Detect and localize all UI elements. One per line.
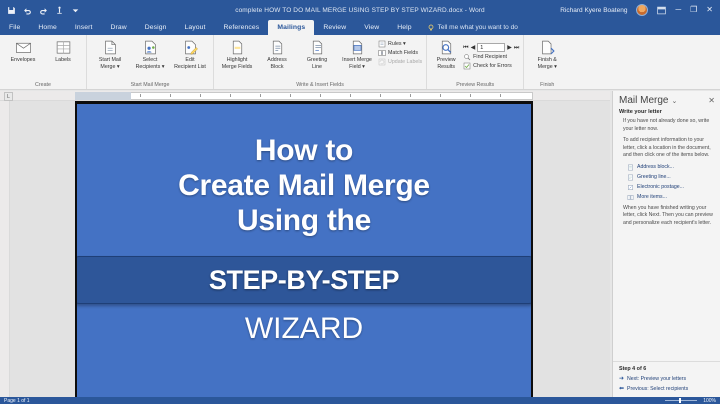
- match-fields-button[interactable]: Match Fields: [378, 49, 422, 57]
- last-record-button[interactable]: ⏭: [514, 45, 519, 51]
- more-items-icon: [627, 194, 634, 201]
- zoom-slider-thumb[interactable]: [679, 398, 681, 403]
- greeting-line-icon: [627, 174, 634, 181]
- title-bar-right: Richard Kyere Boateng ─ ❐ ✕: [560, 4, 720, 16]
- pane-item-greeting-line-label: Greeting line...: [637, 174, 671, 180]
- address-block-button[interactable]: AddressBlock: [258, 37, 296, 70]
- close-button[interactable]: ✕: [706, 6, 713, 14]
- next-step-label: Next: Preview your letters: [627, 376, 686, 382]
- next-record-button[interactable]: ▶: [507, 45, 512, 51]
- preview-results-button[interactable]: PreviewResults: [431, 37, 461, 70]
- insert-merge-field-button[interactable]: Insert MergeField ▾: [338, 37, 376, 70]
- record-navigator: ⏮ ◀ 1 ▶ ⏭: [463, 40, 519, 52]
- horizontal-ruler[interactable]: L: [0, 91, 610, 101]
- edit-recipient-list-label: EditRecipient List: [174, 57, 206, 70]
- rules-icon: [378, 40, 386, 48]
- highlight-merge-fields-icon: [229, 39, 246, 56]
- greeting-line-icon: [309, 39, 326, 56]
- ruler-strip: [75, 92, 533, 100]
- ribbon-group-write-insert-fields: HighlightMerge Fields AddressBlock Greet…: [214, 35, 427, 89]
- group-title-create: Create: [0, 82, 86, 88]
- check-for-errors-label: Check for Errors: [473, 63, 512, 69]
- finish-and-merge-icon: [539, 39, 556, 56]
- tab-references[interactable]: References: [215, 20, 269, 35]
- select-recipients-button[interactable]: SelectRecipients ▾: [131, 37, 169, 70]
- match-fields-label: Match Fields: [388, 50, 418, 56]
- tab-layout[interactable]: Layout: [176, 20, 215, 35]
- ruler-margin-left: [75, 92, 131, 100]
- finish-and-merge-label: Finish &Merge ▾: [538, 57, 557, 70]
- slide-title: How to Create Mail Merge Using the: [77, 104, 531, 238]
- tell-me-box[interactable]: Tell me what you want to do: [427, 20, 518, 35]
- rules-button[interactable]: Rules ▾: [378, 40, 422, 48]
- step-indicator: Step 4 of 6: [619, 366, 714, 372]
- ribbon-group-start-mail-merge: Start MailMerge ▾ SelectRecipients ▾ Edi…: [87, 35, 214, 89]
- pane-item-greeting-line[interactable]: Greeting line...: [627, 174, 714, 181]
- status-bar: Page 1 of 1 100%: [0, 397, 720, 404]
- labels-label: Labels: [55, 57, 71, 64]
- avatar[interactable]: [636, 4, 648, 16]
- account-name[interactable]: Richard Kyere Boateng: [560, 7, 627, 14]
- ribbon: Envelopes Labels Create Start MailMerg: [0, 35, 720, 90]
- greeting-line-label: GreetingLine: [307, 57, 327, 70]
- check-for-errors-button[interactable]: Check for Errors: [463, 62, 519, 70]
- close-icon[interactable]: ✕: [708, 97, 715, 105]
- title-slide: How to Create Mail Merge Using the STEP-…: [77, 104, 531, 402]
- tab-design[interactable]: Design: [136, 20, 176, 35]
- tell-me-label: Tell me what you want to do: [438, 24, 518, 31]
- minimize-button[interactable]: ─: [675, 6, 681, 14]
- task-pane-title: Mail Merge: [619, 95, 668, 106]
- address-block-icon: [627, 164, 634, 171]
- find-recipient-icon: [463, 53, 471, 61]
- pane-item-address-block-label: Address block...: [637, 164, 674, 170]
- tab-file[interactable]: File: [0, 20, 29, 35]
- pane-item-electronic-postage-label: Electronic postage...: [637, 184, 684, 190]
- group-title-start-mail-merge: Start Mail Merge: [87, 82, 213, 88]
- tab-review[interactable]: Review: [314, 20, 355, 35]
- ribbon-group-preview-results: PreviewResults ⏮ ◀ 1 ▶ ⏭ Find Recipi: [427, 35, 524, 89]
- task-pane-footer-note: When you have finished writing your lett…: [623, 205, 714, 228]
- preview-results-label: PreviewResults: [437, 57, 456, 70]
- restore-button[interactable]: ❐: [690, 6, 697, 14]
- group-title-write-insert-fields: Write & Insert Fields: [214, 82, 426, 88]
- page-info[interactable]: Page 1 of 1: [4, 398, 30, 404]
- highlight-merge-fields-label: HighlightMerge Fields: [222, 57, 253, 70]
- slide-title-line-3: Using the: [77, 204, 531, 239]
- envelopes-button[interactable]: Envelopes: [4, 37, 42, 64]
- update-labels-label: Update Labels: [388, 59, 422, 65]
- preview-results-icon: [438, 39, 455, 56]
- status-bar-right: 100%: [665, 398, 720, 404]
- group-title-finish: Finish: [524, 82, 570, 88]
- slide-title-line-2: Create Mail Merge: [77, 169, 531, 204]
- tab-insert[interactable]: Insert: [66, 20, 102, 35]
- update-labels-icon: [378, 58, 386, 66]
- status-bar-left: Page 1 of 1: [0, 398, 30, 404]
- ribbon-display-options-icon[interactable]: [657, 6, 666, 15]
- tab-view[interactable]: View: [355, 20, 388, 35]
- slide-subtitle: WIZARD: [77, 312, 531, 345]
- pane-item-more-items[interactable]: More items...: [627, 194, 714, 201]
- slide-title-line-1: How to: [77, 134, 531, 169]
- banner-text: STEP-BY-STEP: [209, 265, 399, 296]
- tab-home[interactable]: Home: [29, 20, 66, 35]
- task-pane-paragraph-2: To add recipient information to your let…: [623, 137, 714, 160]
- match-fields-icon: [378, 49, 386, 57]
- zoom-level[interactable]: 100%: [703, 398, 716, 404]
- ribbon-group-finish: Finish &Merge ▾ Finish: [524, 35, 570, 89]
- previous-step-link[interactable]: ⬅ Previous: Select recipients: [619, 386, 714, 392]
- start-mail-merge-icon: [102, 39, 119, 56]
- rules-label: Rules ▾: [388, 41, 406, 47]
- previous-record-button[interactable]: ◀: [471, 45, 476, 51]
- task-pane-footer: Step 4 of 6 ➜ Next: Preview your letters…: [613, 361, 720, 396]
- start-mail-merge-label: Start MailMerge ▾: [99, 57, 121, 70]
- title-bar: complete HOW TO DO MAIL MERGE USING STEP…: [0, 0, 720, 20]
- address-block-label: AddressBlock: [267, 57, 286, 70]
- select-recipients-label: SelectRecipients ▾: [136, 57, 165, 70]
- tab-draw[interactable]: Draw: [102, 20, 136, 35]
- write-insert-small-commands: Rules ▾ Match Fields Update Labels: [378, 37, 422, 66]
- envelope-icon: [15, 39, 32, 56]
- pane-item-more-items-label: More items...: [637, 194, 667, 200]
- group-title-preview-results: Preview Results: [427, 82, 523, 88]
- select-recipients-icon: [142, 39, 159, 56]
- labels-icon: [55, 39, 72, 56]
- find-recipient-button[interactable]: Find Recipient: [463, 53, 519, 61]
- edit-recipient-list-button[interactable]: EditRecipient List: [171, 37, 209, 70]
- next-step-link[interactable]: ➜ Next: Preview your letters: [619, 376, 714, 382]
- task-pane-heading: Write your letter: [619, 109, 714, 115]
- word-window: complete HOW TO DO MAIL MERGE USING STEP…: [0, 0, 720, 404]
- check-for-errors-icon: [463, 62, 471, 70]
- vertical-ruler[interactable]: [0, 101, 10, 404]
- highlight-merge-fields-button[interactable]: HighlightMerge Fields: [218, 37, 256, 70]
- task-pane-header: Mail Merge ⌄ ✕: [613, 91, 720, 109]
- previous-step-label: Previous: Select recipients: [627, 386, 688, 392]
- tab-mailings[interactable]: Mailings: [268, 20, 314, 35]
- envelopes-label: Envelopes: [11, 57, 36, 64]
- document-page[interactable]: How to Create Mail Merge Using the STEP-…: [75, 101, 533, 404]
- ribbon-tabs: File Home Insert Draw Design Layout Refe…: [0, 20, 720, 35]
- edit-recipient-list-icon: [182, 39, 199, 56]
- pane-item-electronic-postage[interactable]: Electronic postage...: [627, 184, 714, 191]
- arrow-right-icon: ➜: [619, 376, 624, 382]
- step-by-step-banner: STEP-BY-STEP: [75, 256, 533, 304]
- update-labels-button[interactable]: Update Labels: [378, 58, 422, 66]
- chevron-down-icon[interactable]: ⌄: [671, 97, 677, 105]
- labels-button[interactable]: Labels: [44, 37, 82, 64]
- electronic-postage-icon: [627, 184, 634, 191]
- insert-merge-field-label: Insert MergeField ▾: [342, 57, 372, 70]
- tab-help[interactable]: Help: [388, 20, 420, 35]
- task-pane-item-list: Address block... Greeting line... Electr…: [627, 164, 714, 201]
- start-mail-merge-button[interactable]: Start MailMerge ▾: [91, 37, 129, 70]
- ribbon-group-create: Envelopes Labels Create: [0, 35, 87, 89]
- address-block-icon: [269, 39, 286, 56]
- insert-merge-field-icon: [349, 39, 366, 56]
- document-canvas: How to Create Mail Merge Using the STEP-…: [10, 101, 610, 404]
- preview-results-commands: ⏮ ◀ 1 ▶ ⏭ Find Recipient: [463, 37, 519, 70]
- mail-merge-task-pane: Mail Merge ⌄ ✕ Write your letter If you …: [612, 91, 720, 404]
- record-number-input[interactable]: 1: [477, 43, 505, 52]
- tab-stop-selector[interactable]: L: [4, 92, 13, 101]
- finish-and-merge-button[interactable]: Finish &Merge ▾: [528, 37, 566, 70]
- task-pane-paragraph-1: If you have not already done so, write y…: [623, 118, 714, 133]
- find-recipient-label: Find Recipient: [473, 54, 507, 60]
- arrow-left-icon: ⬅: [619, 386, 624, 392]
- pane-item-address-block[interactable]: Address block...: [627, 164, 714, 171]
- first-record-button[interactable]: ⏮: [463, 45, 468, 51]
- lightbulb-icon: [427, 24, 435, 32]
- zoom-slider[interactable]: [665, 400, 697, 401]
- task-pane-body: Write your letter If you have not alread…: [613, 109, 720, 227]
- greeting-line-button[interactable]: GreetingLine: [298, 37, 336, 70]
